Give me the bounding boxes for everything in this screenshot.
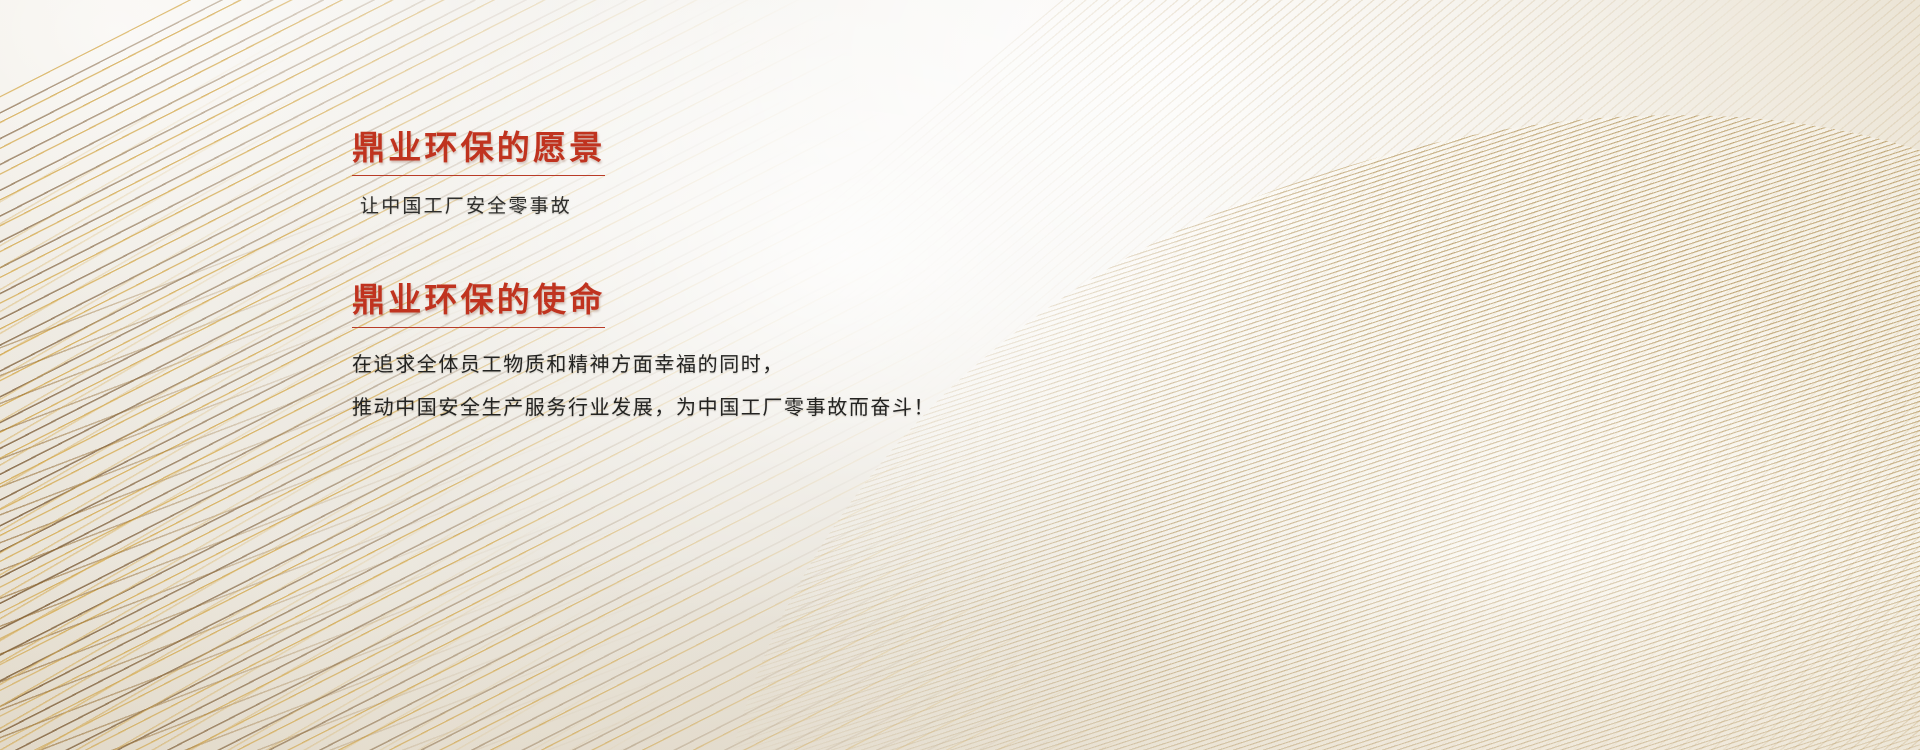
mission-heading: 鼎业环保的使命 [352,280,605,328]
mission-block: 鼎业环保的使命 在追求全体员工物质和精神方面幸福的同时， 推动中国安全生产服务行… [352,280,1252,424]
vision-heading: 鼎业环保的愿景 [352,128,605,176]
vision-subtitle: 让中国工厂安全零事故 [360,193,1252,222]
vision-block: 鼎业环保的愿景 让中国工厂安全零事故 [352,128,1252,222]
mission-body: 在追求全体员工物质和精神方面幸福的同时， 推动中国安全生产服务行业发展，为中国工… [352,350,1252,424]
mission-line-2: 推动中国安全生产服务行业发展，为中国工厂零事故而奋斗！ [352,393,1252,424]
banner-content: 鼎业环保的愿景 让中国工厂安全零事故 鼎业环保的使命 在追求全体员工物质和精神方… [352,128,1252,424]
mission-line-1: 在追求全体员工物质和精神方面幸福的同时， [352,350,1252,381]
banner-stage: 鼎业环保的愿景 让中国工厂安全零事故 鼎业环保的使命 在追求全体员工物质和精神方… [0,0,1920,750]
